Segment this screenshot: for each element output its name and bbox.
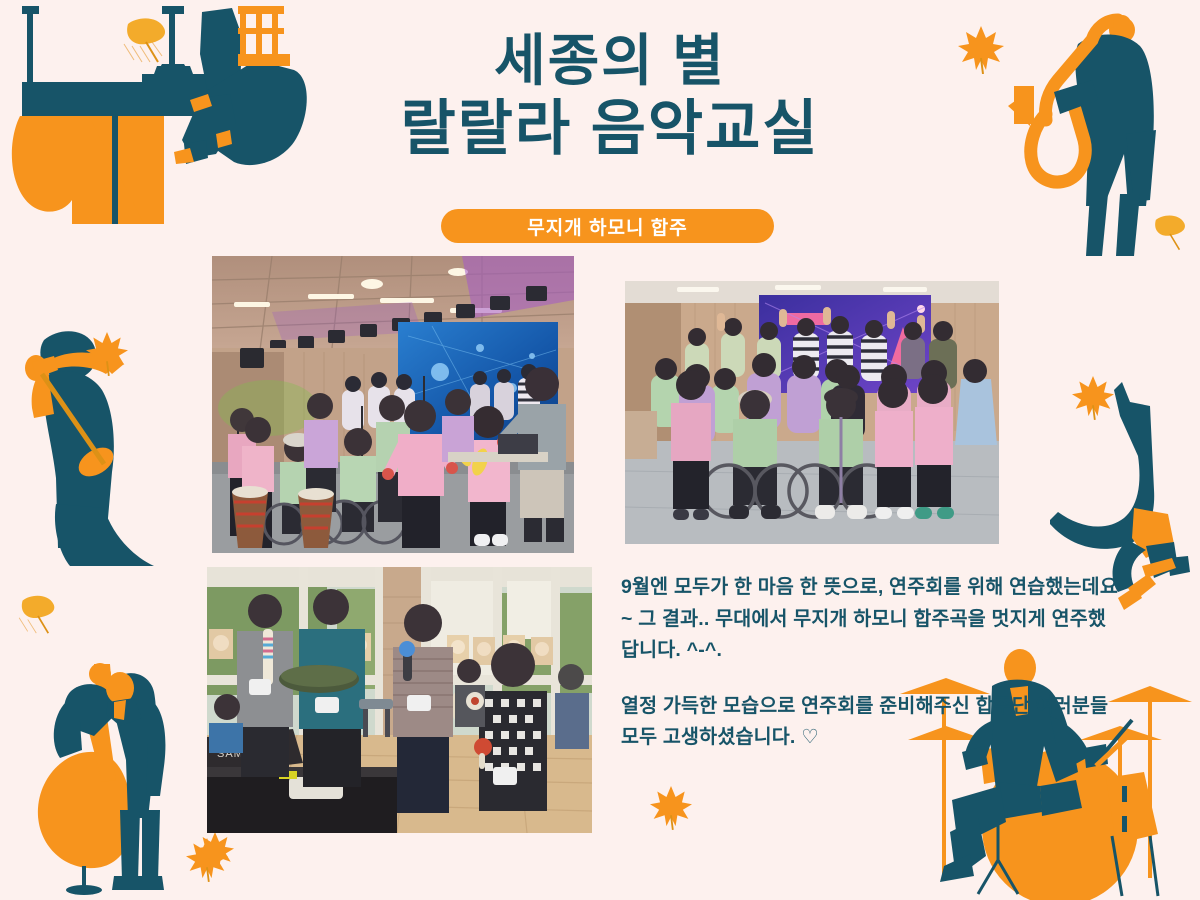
- photo-practice-room-image: SAMICK: [207, 567, 592, 833]
- double-bass-player-illustration: [8, 640, 208, 900]
- maple-leaf-icon: [196, 830, 234, 872]
- title-line-2: 랄랄라 음악교실: [300, 94, 920, 165]
- title-line-1: 세종의 별: [300, 28, 920, 94]
- photo-performance-image: [212, 256, 574, 553]
- ginkgo-leaf-icon: [1148, 212, 1192, 256]
- ginkgo-leaf-icon: [14, 592, 62, 640]
- maple-leaf-icon: [1072, 374, 1114, 420]
- body-text: 9월엔 모두가 한 마음 한 뜻으로, 연주회를 위해 연습했는데요~ 그 결과…: [621, 572, 1121, 754]
- violin-player-illustration: [8, 322, 188, 572]
- poster-canvas: 세종의 별 랄랄라 음악교실 무지개 하모니 합주: [0, 0, 1200, 900]
- maple-leaf-icon: [650, 784, 692, 830]
- photo-practice-room: SAMICK: [207, 567, 592, 833]
- paragraph-spacer: [621, 667, 1121, 691]
- ginkgo-leaf-icon: [118, 14, 174, 70]
- body-paragraph-1: 9월엔 모두가 한 마음 한 뜻으로, 연주회를 위해 연습했는데요~ 그 결과…: [621, 572, 1121, 667]
- saxophone-player-illustration: [1000, 0, 1200, 259]
- poster-title: 세종의 별 랄랄라 음악교실: [300, 28, 920, 165]
- body-paragraph-2: 열정 가득한 모습으로 연주회를 준비해주신 합주단 여러분들 모두 고생하셨습…: [621, 691, 1121, 754]
- maple-leaf-icon: [958, 24, 1004, 74]
- maple-leaf-icon: [186, 836, 228, 882]
- subtitle-badge: 무지개 하모니 합주: [441, 209, 774, 243]
- photo-group-image: [625, 281, 999, 544]
- photo-performance: [212, 256, 574, 553]
- maple-leaf-icon: [86, 330, 128, 376]
- photo-group: [625, 281, 999, 544]
- grand-piano-player-illustration: [0, 0, 314, 224]
